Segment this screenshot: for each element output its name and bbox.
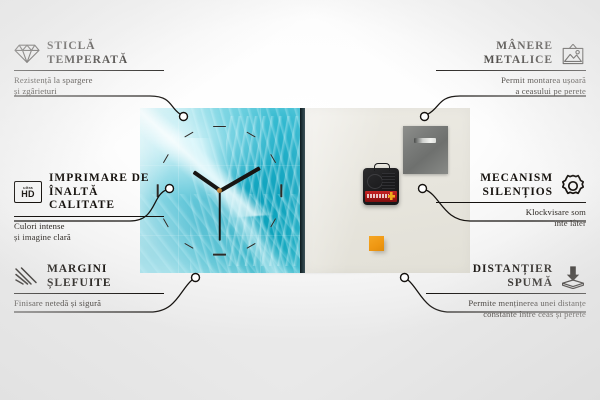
clock-tick	[246, 243, 255, 249]
product-wall-clock	[140, 108, 470, 273]
callout-subtitle: Permit montarea ușoară a ceasului pe per…	[436, 71, 586, 97]
clock-mechanism	[363, 168, 399, 205]
callout-title: STICLĂ TEMPERATĂ	[47, 40, 128, 67]
polished-edge-icon	[14, 266, 40, 287]
clock-tick	[184, 132, 193, 138]
callout-subtitle: Finisare netedă și sigură	[14, 294, 164, 309]
clock-second-hand	[219, 191, 221, 241]
callout-header: STICLĂ TEMPERATĂ	[14, 40, 164, 67]
battery	[365, 191, 397, 202]
gear-icon	[560, 173, 586, 199]
callout-header: MECANISM SILENȚIOS	[436, 172, 586, 199]
callout-imprimare-inalta-calitate: ultra HD IMPRIMARE DE ÎNALTĂ CALITATE Cu…	[14, 172, 164, 243]
clock-front-panel	[140, 108, 300, 273]
callout-header: DISTANȚIER SPUMĂ	[426, 263, 586, 290]
clock-tick	[213, 126, 226, 128]
mechanism-dial	[367, 174, 383, 189]
clock-tick	[270, 154, 276, 163]
clock-tick	[184, 243, 193, 249]
callout-title: MÂNERE METALICE	[484, 40, 553, 67]
callout-header: MARGINI ȘLEFUITE	[14, 263, 164, 290]
clock-tick	[213, 254, 226, 256]
callout-title: IMPRIMARE DE ÎNALTĂ CALITATE	[49, 172, 164, 213]
clock-tick	[246, 132, 255, 138]
battery-label	[367, 194, 389, 198]
clock-tick	[270, 218, 276, 227]
callout-header: ultra HD IMPRIMARE DE ÎNALTĂ CALITATE	[14, 172, 164, 213]
mechanism-vents	[382, 173, 395, 189]
callout-title: MARGINI ȘLEFUITE	[47, 263, 111, 290]
callout-header: MÂNERE METALICE	[436, 40, 586, 67]
clock-tick	[163, 154, 169, 163]
foam-spacer	[369, 236, 384, 251]
callout-distantier-spuma: DISTANȚIER SPUMĂ Permite menținerea unei…	[426, 263, 586, 320]
clock-center-cap	[217, 188, 222, 193]
callout-title: DISTANȚIER SPUMĂ	[473, 263, 553, 290]
clock-minute-hand	[219, 166, 261, 192]
diamond-icon	[14, 43, 40, 64]
callout-subtitle: Rezistență la spargere și zgârieturi	[14, 71, 164, 97]
metal-hanger-plate	[403, 126, 448, 174]
callout-subtitle: Klockvisare som inte låter	[436, 203, 586, 229]
callout-title: MECANISM SILENȚIOS	[480, 172, 553, 199]
ultra-hd-icon: ultra HD	[14, 181, 42, 203]
callout-sticla-temperata: STICLĂ TEMPERATĂ Rezistență la spargere …	[14, 40, 164, 97]
callout-mecanism-silentios: MECANISM SILENȚIOS Klockvisare som inte …	[436, 172, 586, 229]
picture-frame-icon	[560, 43, 586, 65]
mechanism-hook	[374, 163, 390, 171]
callout-subtitle: Culori intense și imagine clară	[14, 217, 164, 243]
callout-manere-metalice: MÂNERE METALICE Permit montarea ușoară a…	[436, 40, 586, 97]
infographic-canvas: STICLĂ TEMPERATĂ Rezistență la spargere …	[0, 0, 600, 400]
foam-spacer-arrow-icon	[560, 265, 586, 289]
clock-tick	[281, 184, 283, 197]
hanger-slot	[414, 138, 436, 143]
battery-plus-icon	[388, 192, 395, 200]
callout-margini-slefuite: MARGINI ȘLEFUITE Finisare netedă și sigu…	[14, 263, 164, 309]
callout-subtitle: Permite menținerea unei distanțe constan…	[426, 294, 586, 320]
